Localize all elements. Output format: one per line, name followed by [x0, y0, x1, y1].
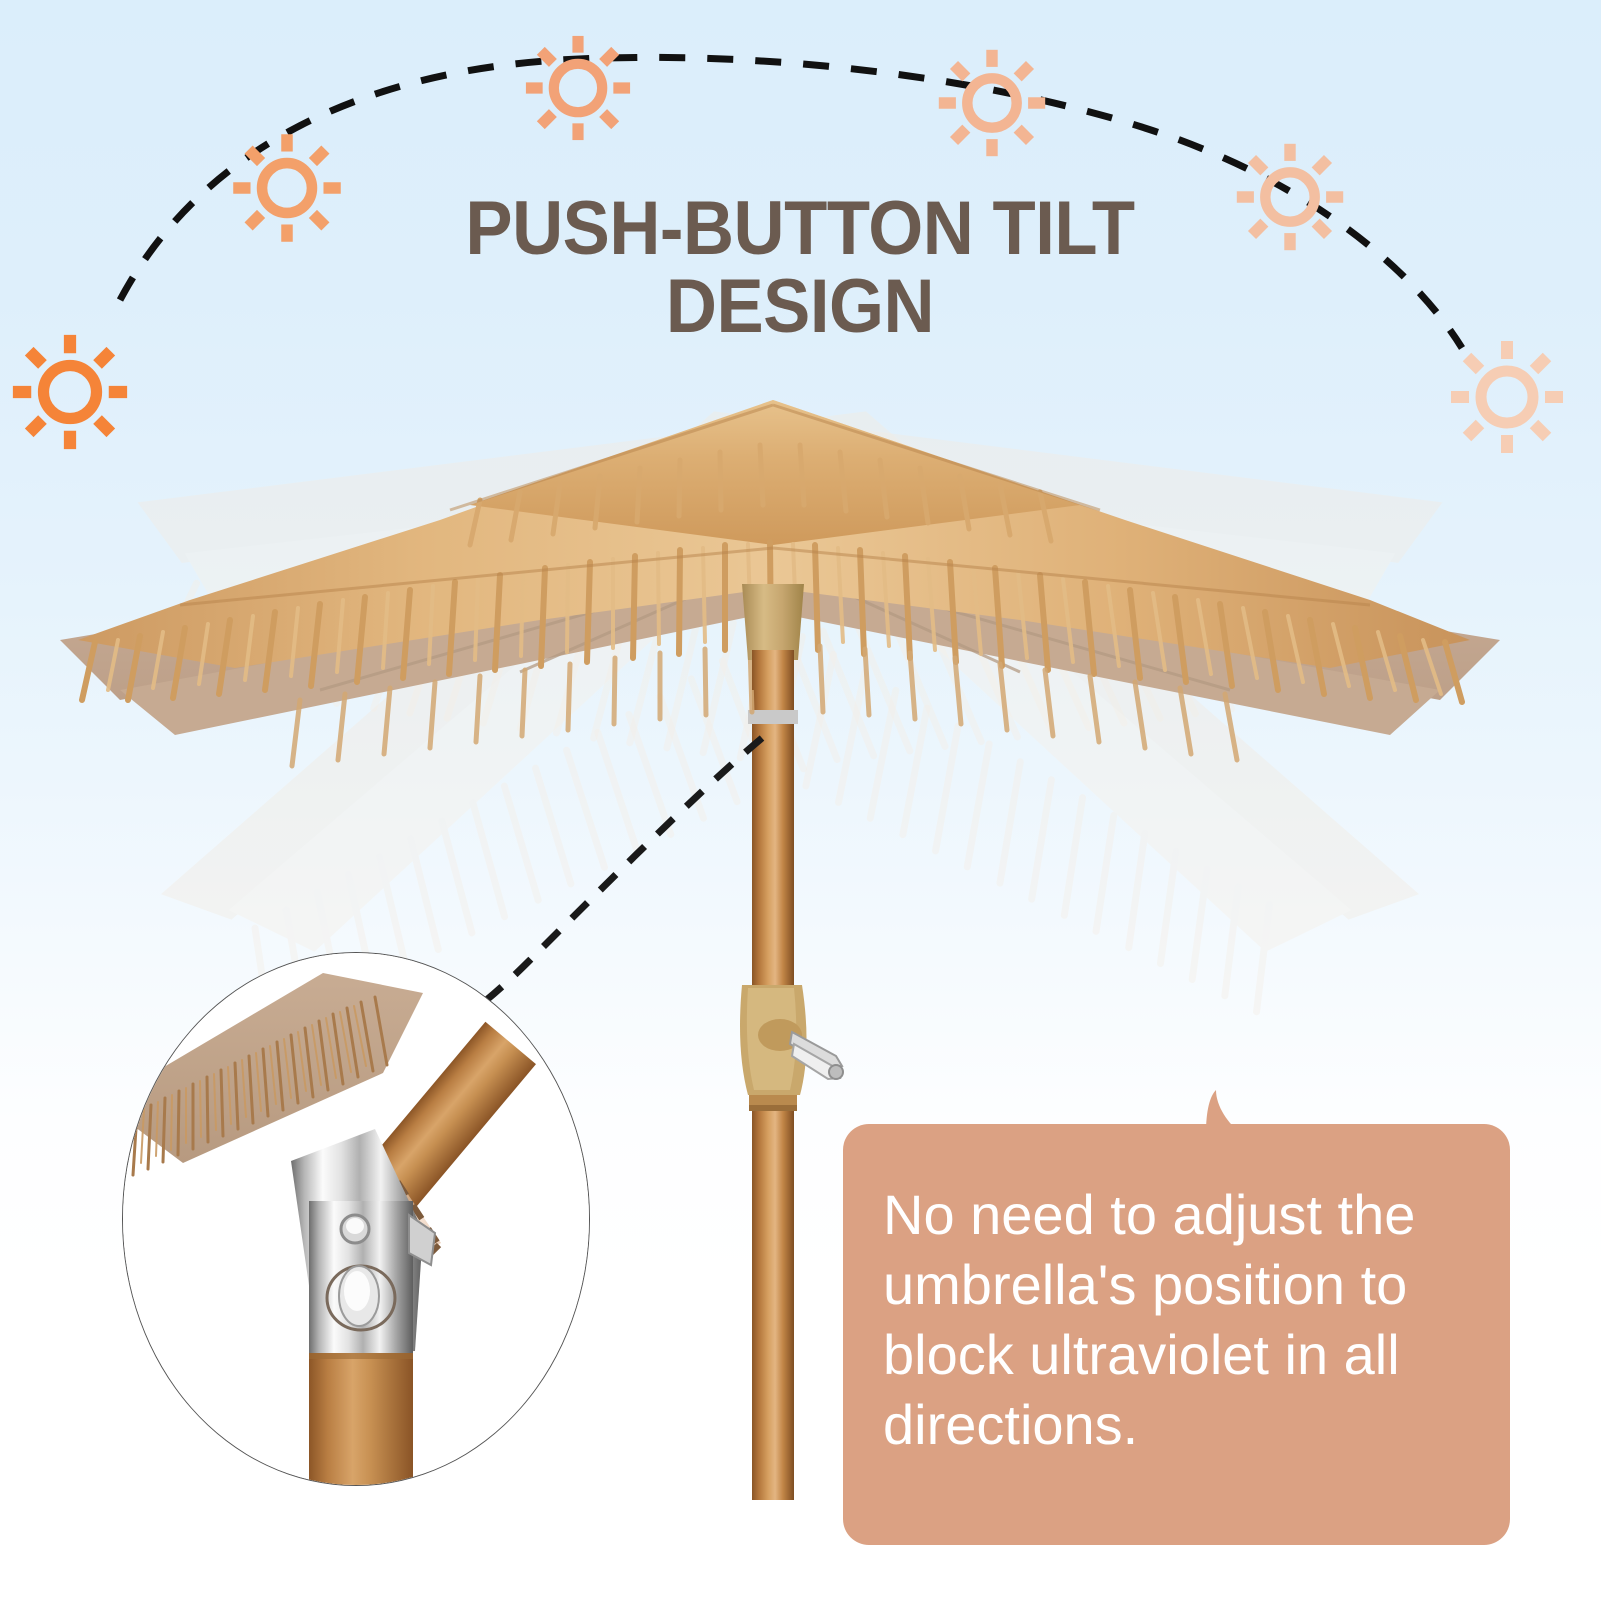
callout-text: No need to adjust the umbrella's positio… — [883, 1183, 1415, 1456]
infographic-canvas: PUSH-BUTTON TILT DESIGN No need to adjus… — [0, 0, 1601, 1601]
page-title-line-1: PUSH-BUTTON TILT — [335, 190, 1265, 268]
page-title: PUSH-BUTTON TILT DESIGN — [335, 190, 1265, 347]
tilt-joint-detail-content — [123, 953, 589, 1485]
crank-handle-mechanism[interactable] — [740, 985, 843, 1095]
tilt-joint-detail-circle — [122, 952, 590, 1486]
page-title-line-2: DESIGN — [335, 268, 1265, 346]
callout-bubble: No need to adjust the umbrella's positio… — [843, 1124, 1510, 1545]
